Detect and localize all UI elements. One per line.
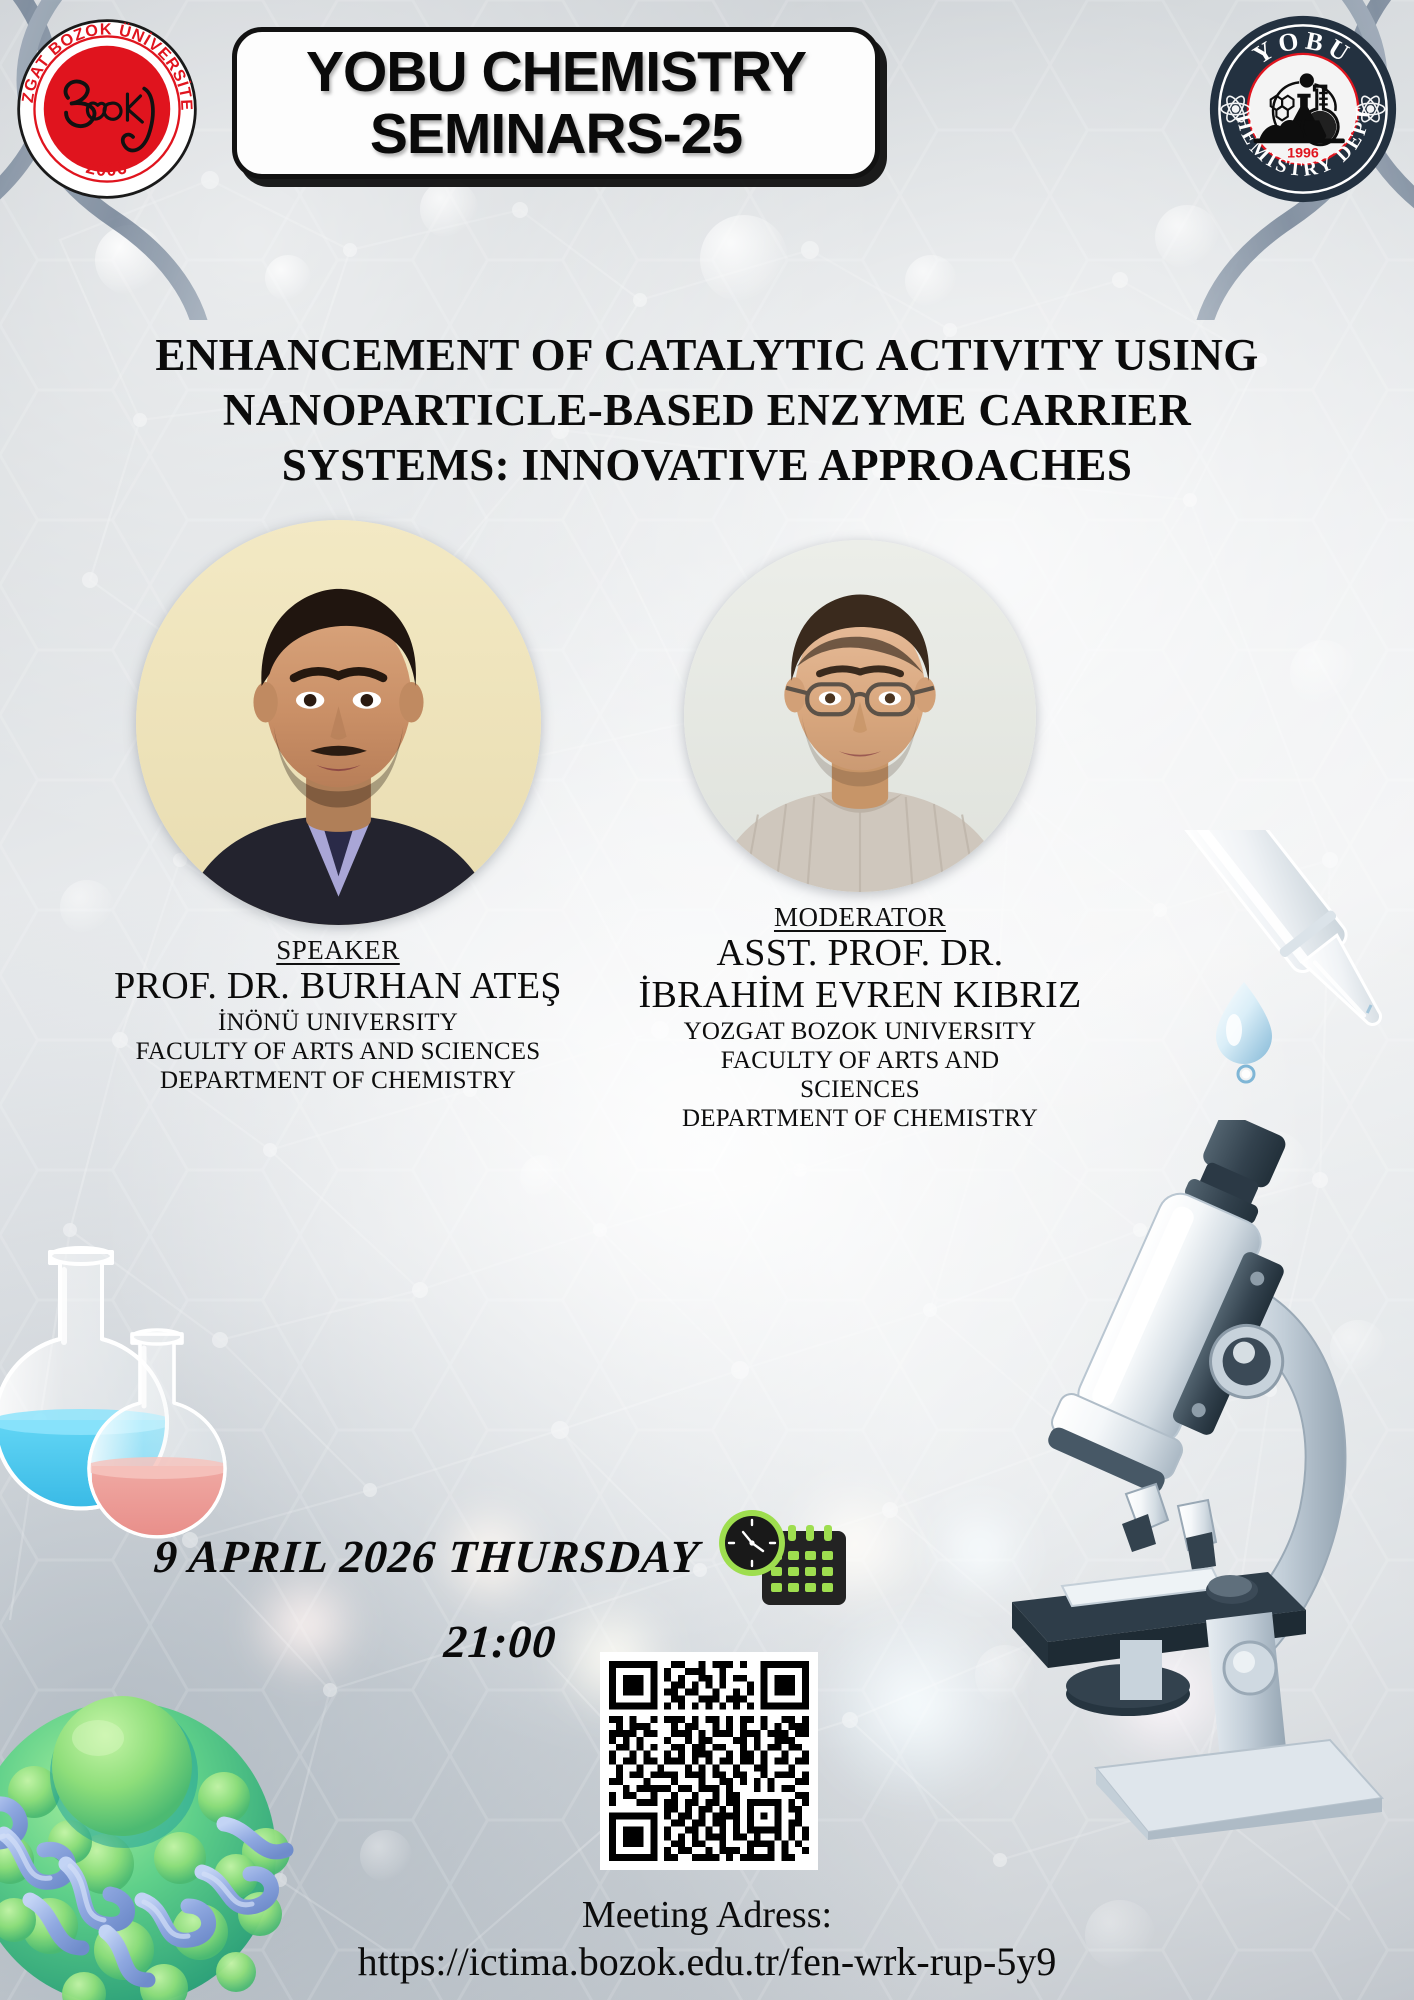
microscope bbox=[1000, 1120, 1414, 1840]
moderator-name-line-2: İBRAHİM EVREN KIBRIZ bbox=[600, 975, 1120, 1017]
pipette-drop bbox=[1168, 830, 1414, 1130]
meeting-address-url[interactable]: https://ictima.bozok.edu.tr/fen-wrk-rup-… bbox=[0, 1938, 1414, 1985]
seminar-title-line-3: SYSTEMS: INNOVATIVE APPROACHES bbox=[30, 438, 1384, 493]
speaker-role-label: SPEAKER bbox=[78, 935, 598, 966]
chemistry-department-logo: YOBU CHEMISTRY DEPT. bbox=[1208, 14, 1398, 204]
qr-code[interactable] bbox=[600, 1652, 818, 1870]
moderator-affiliation-2: FACULTY OF ARTS AND bbox=[600, 1046, 1120, 1075]
calendar-clock-icon bbox=[714, 1503, 846, 1611]
chem-logo-year: 1996 bbox=[1287, 145, 1319, 161]
moderator-block: MODERATOR ASST. PROF. DR. İBRAHİM EVREN … bbox=[600, 540, 1120, 1133]
moderator-name-line-1: ASST. PROF. DR. bbox=[600, 933, 1120, 975]
poster-header: YOZGAT BOZOK ÜNİVERSİTESİ 2006 YOBU CHEM… bbox=[0, 0, 1414, 210]
seminar-title: ENHANCEMENT OF CATALYTIC ACTIVITY USING … bbox=[0, 328, 1414, 493]
main-title-banner: YOBU CHEMISTRY SEMINARS-25 bbox=[232, 27, 880, 179]
seminar-title-line-2: NANOPARTICLE-BASED ENZYME CARRIER bbox=[30, 383, 1384, 438]
moderator-avatar bbox=[684, 540, 1036, 892]
speaker-name: PROF. DR. BURHAN ATEŞ bbox=[78, 966, 598, 1008]
seminar-title-line-1: ENHANCEMENT OF CATALYTIC ACTIVITY USING bbox=[30, 328, 1384, 383]
seminar-poster: YOZGAT BOZOK ÜNİVERSİTESİ 2006 YOBU CHEM… bbox=[0, 0, 1414, 2000]
meeting-address: Meeting Adress: https://ictima.bozok.edu… bbox=[0, 1893, 1414, 1985]
svg-text:2006: 2006 bbox=[84, 157, 130, 180]
university-year: 2006 bbox=[84, 157, 130, 180]
moderator-affiliation-1: YOZGAT BOZOK UNIVERSITY bbox=[600, 1017, 1120, 1046]
university-logo: YOZGAT BOZOK ÜNİVERSİTESİ 2006 bbox=[14, 16, 200, 202]
speaker-avatar bbox=[136, 520, 541, 925]
speaker-affiliation-1: İNÖNÜ UNIVERSITY bbox=[78, 1008, 598, 1037]
speaker-block: SPEAKER PROF. DR. BURHAN ATEŞ İNÖNÜ UNIV… bbox=[78, 520, 598, 1095]
speaker-affiliation-3: DEPARTMENT OF CHEMISTRY bbox=[78, 1066, 598, 1095]
speaker-affiliation-2: FACULTY OF ARTS AND SCIENCES bbox=[78, 1037, 598, 1066]
banner-line-1: YOBU CHEMISTRY bbox=[306, 42, 806, 102]
banner-line-2: SEMINARS-25 bbox=[370, 104, 742, 164]
qr-code-image bbox=[609, 1661, 809, 1861]
moderator-role-label: MODERATOR bbox=[600, 902, 1120, 933]
event-datetime: 9 APRIL 2026 THURSDAY bbox=[0, 1503, 1000, 1673]
event-time: 21:00 bbox=[442, 1611, 559, 1673]
moderator-affiliation-4: DEPARTMENT OF CHEMISTRY bbox=[600, 1104, 1120, 1133]
moderator-affiliation-3: SCIENCES bbox=[600, 1075, 1120, 1104]
meeting-address-label: Meeting Adress: bbox=[0, 1893, 1414, 1938]
event-date: 9 APRIL 2026 THURSDAY bbox=[152, 1526, 702, 1588]
